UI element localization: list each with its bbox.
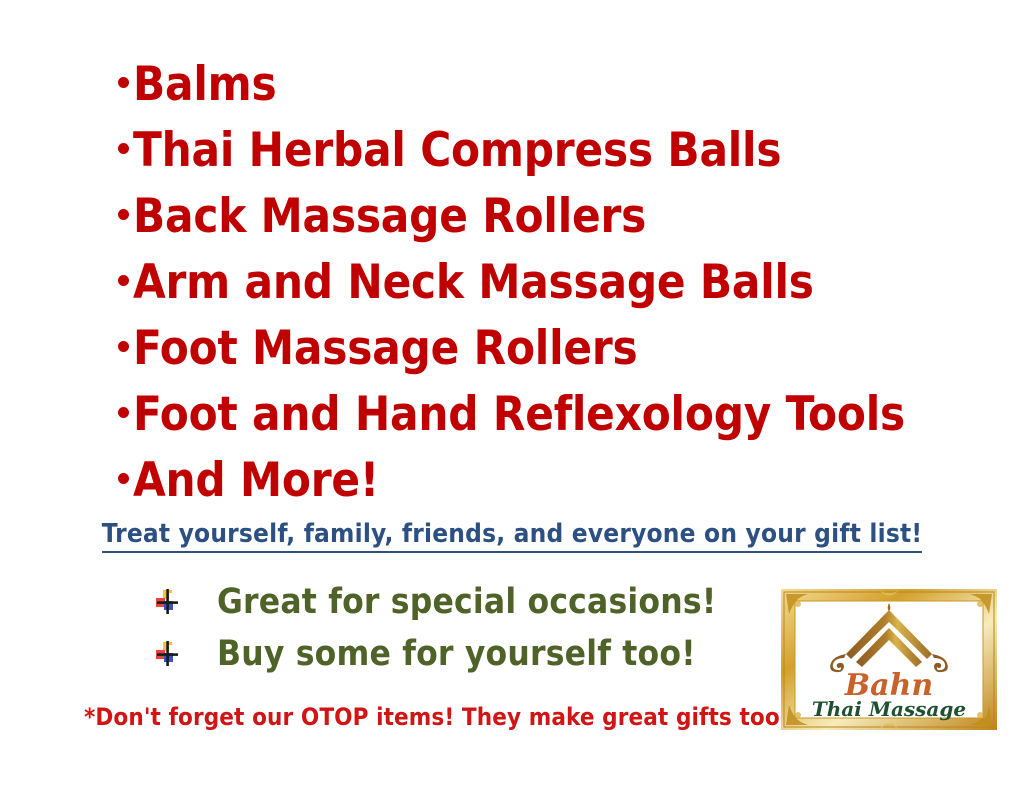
product-label: Balms <box>133 52 276 118</box>
color-cross-bullet-icon <box>155 641 181 667</box>
round-bullet-icon <box>118 473 129 484</box>
bahn-thai-massage-logo: Bahn Thai Massage <box>780 588 998 731</box>
round-bullet-icon <box>118 341 129 352</box>
logo-brand-line-2: Thai Massage <box>812 697 966 721</box>
benefit-label: Buy some for yourself too! <box>217 634 696 674</box>
list-item: Great for special occasions! <box>155 576 765 628</box>
round-bullet-icon <box>118 143 129 154</box>
product-label: And More! <box>133 448 379 514</box>
list-item: Thai Herbal Compress Balls <box>118 118 998 184</box>
list-item: And More! <box>118 448 998 514</box>
footnote-text: *Don't forget our OTOP items! They make … <box>84 702 774 732</box>
round-bullet-icon <box>118 407 129 418</box>
product-label: Back Massage Rollers <box>133 184 646 250</box>
product-bullet-list: Balms Thai Herbal Compress Balls Back Ma… <box>118 52 998 514</box>
list-item: Back Massage Rollers <box>118 184 998 250</box>
benefits-list: Great for special occasions! Buy some fo… <box>155 576 765 680</box>
round-bullet-icon <box>118 77 129 88</box>
list-item: Foot Massage Rollers <box>118 316 998 382</box>
tagline: Treat yourself, family, friends, and eve… <box>0 518 1024 553</box>
product-label: Foot Massage Rollers <box>133 316 638 382</box>
list-item: Arm and Neck Massage Balls <box>118 250 998 316</box>
slide-canvas: Balms Thai Herbal Compress Balls Back Ma… <box>0 0 1024 791</box>
list-item: Balms <box>118 52 998 118</box>
color-cross-bullet-icon <box>155 589 181 615</box>
tagline-text: Treat yourself, family, friends, and eve… <box>102 518 922 553</box>
product-label: Thai Herbal Compress Balls <box>133 118 781 184</box>
product-label: Foot and Hand Reflexology Tools <box>133 382 905 448</box>
product-label: Arm and Neck Massage Balls <box>133 250 814 316</box>
round-bullet-icon <box>118 275 129 286</box>
benefit-label: Great for special occasions! <box>217 582 716 622</box>
list-item: Foot and Hand Reflexology Tools <box>118 382 998 448</box>
list-item: Buy some for yourself too! <box>155 628 765 680</box>
round-bullet-icon <box>118 209 129 220</box>
